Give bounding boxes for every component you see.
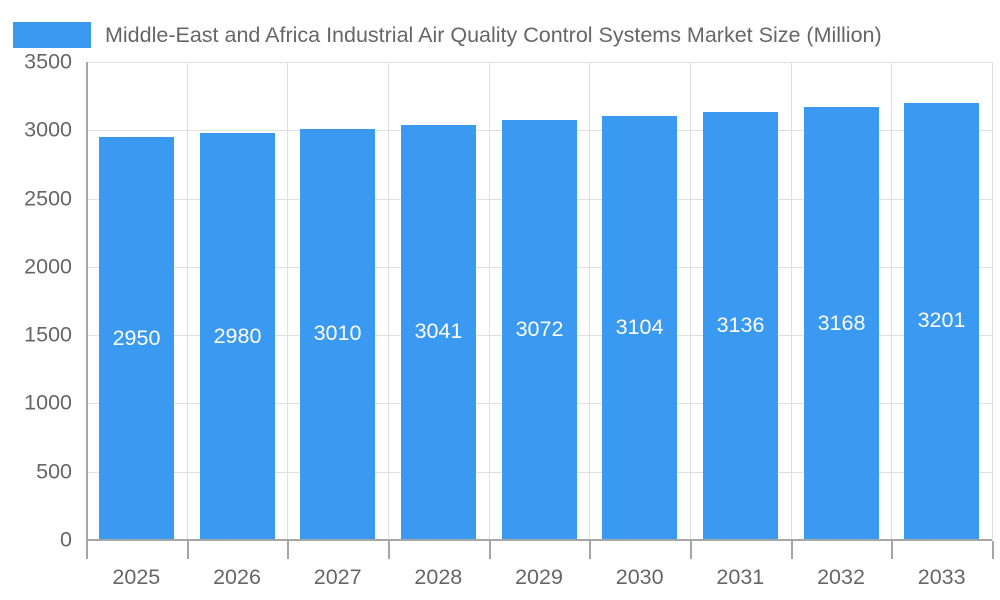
x-axis-line [86,539,992,541]
y-axis-tick-label: 2000 [0,254,72,279]
bar-value-label-2030: 3104 [602,315,677,340]
bar-value-label-2032: 3168 [804,311,879,336]
x-axis-tick-label-2033: 2033 [862,565,1000,590]
bar-value-label-2029: 3072 [502,317,577,342]
x-axis-tick-mark [86,541,88,559]
x-axis-tick-mark [489,541,491,559]
chart-legend[interactable]: Middle-East and Africa Industrial Air Qu… [13,20,882,50]
y-axis-tick-label: 2500 [0,186,72,211]
bar-2030[interactable]: 3104 [602,116,677,540]
x-axis-tick-mark [187,541,189,559]
bar-2027[interactable]: 3010 [300,129,375,540]
bar-value-label-2031: 3136 [703,313,778,338]
plot-area: 295029803010304130723104313631683201 [86,62,992,540]
bar-2028[interactable]: 3041 [401,125,476,540]
bar-value-label-2033: 3201 [904,308,979,333]
bar-value-label-2026: 2980 [200,324,275,349]
legend-swatch-series-1[interactable] [13,22,91,48]
gridline-vertical [690,62,691,540]
gridline-horizontal [86,62,992,63]
y-axis-line [86,62,88,541]
gridline-vertical [287,62,288,540]
y-axis-tick-label: 1500 [0,323,72,348]
bar-2032[interactable]: 3168 [804,107,879,540]
y-axis-tick-label: 3000 [0,118,72,143]
x-axis-tick-mark [791,541,793,559]
x-axis-tick-mark [589,541,591,559]
bar-2025[interactable]: 2950 [99,137,174,540]
gridline-vertical [489,62,490,540]
gridline-vertical [187,62,188,540]
x-axis-tick-mark [388,541,390,559]
bar-value-label-2027: 3010 [300,321,375,346]
y-axis-tick-label: 3500 [0,50,72,75]
x-axis-tick-mark [992,541,994,559]
bar-value-label-2028: 3041 [401,319,476,344]
gridline-vertical [992,62,993,540]
x-axis-tick-mark [891,541,893,559]
y-axis-tick-label: 0 [0,528,72,553]
gridline-vertical [589,62,590,540]
bar-chart: Middle-East and Africa Industrial Air Qu… [0,0,1000,600]
bar-2031[interactable]: 3136 [703,112,778,540]
gridline-vertical [791,62,792,540]
gridline-vertical [891,62,892,540]
gridline-vertical [388,62,389,540]
bar-2033[interactable]: 3201 [904,103,979,540]
x-axis-tick-mark [690,541,692,559]
bar-value-label-2025: 2950 [99,326,174,351]
y-axis-tick-label: 500 [0,459,72,484]
y-axis-tick-label: 1000 [0,391,72,416]
legend-label-series-1: Middle-East and Africa Industrial Air Qu… [105,22,882,48]
x-axis-tick-mark [287,541,289,559]
bar-2029[interactable]: 3072 [502,120,577,540]
bar-2026[interactable]: 2980 [200,133,275,540]
